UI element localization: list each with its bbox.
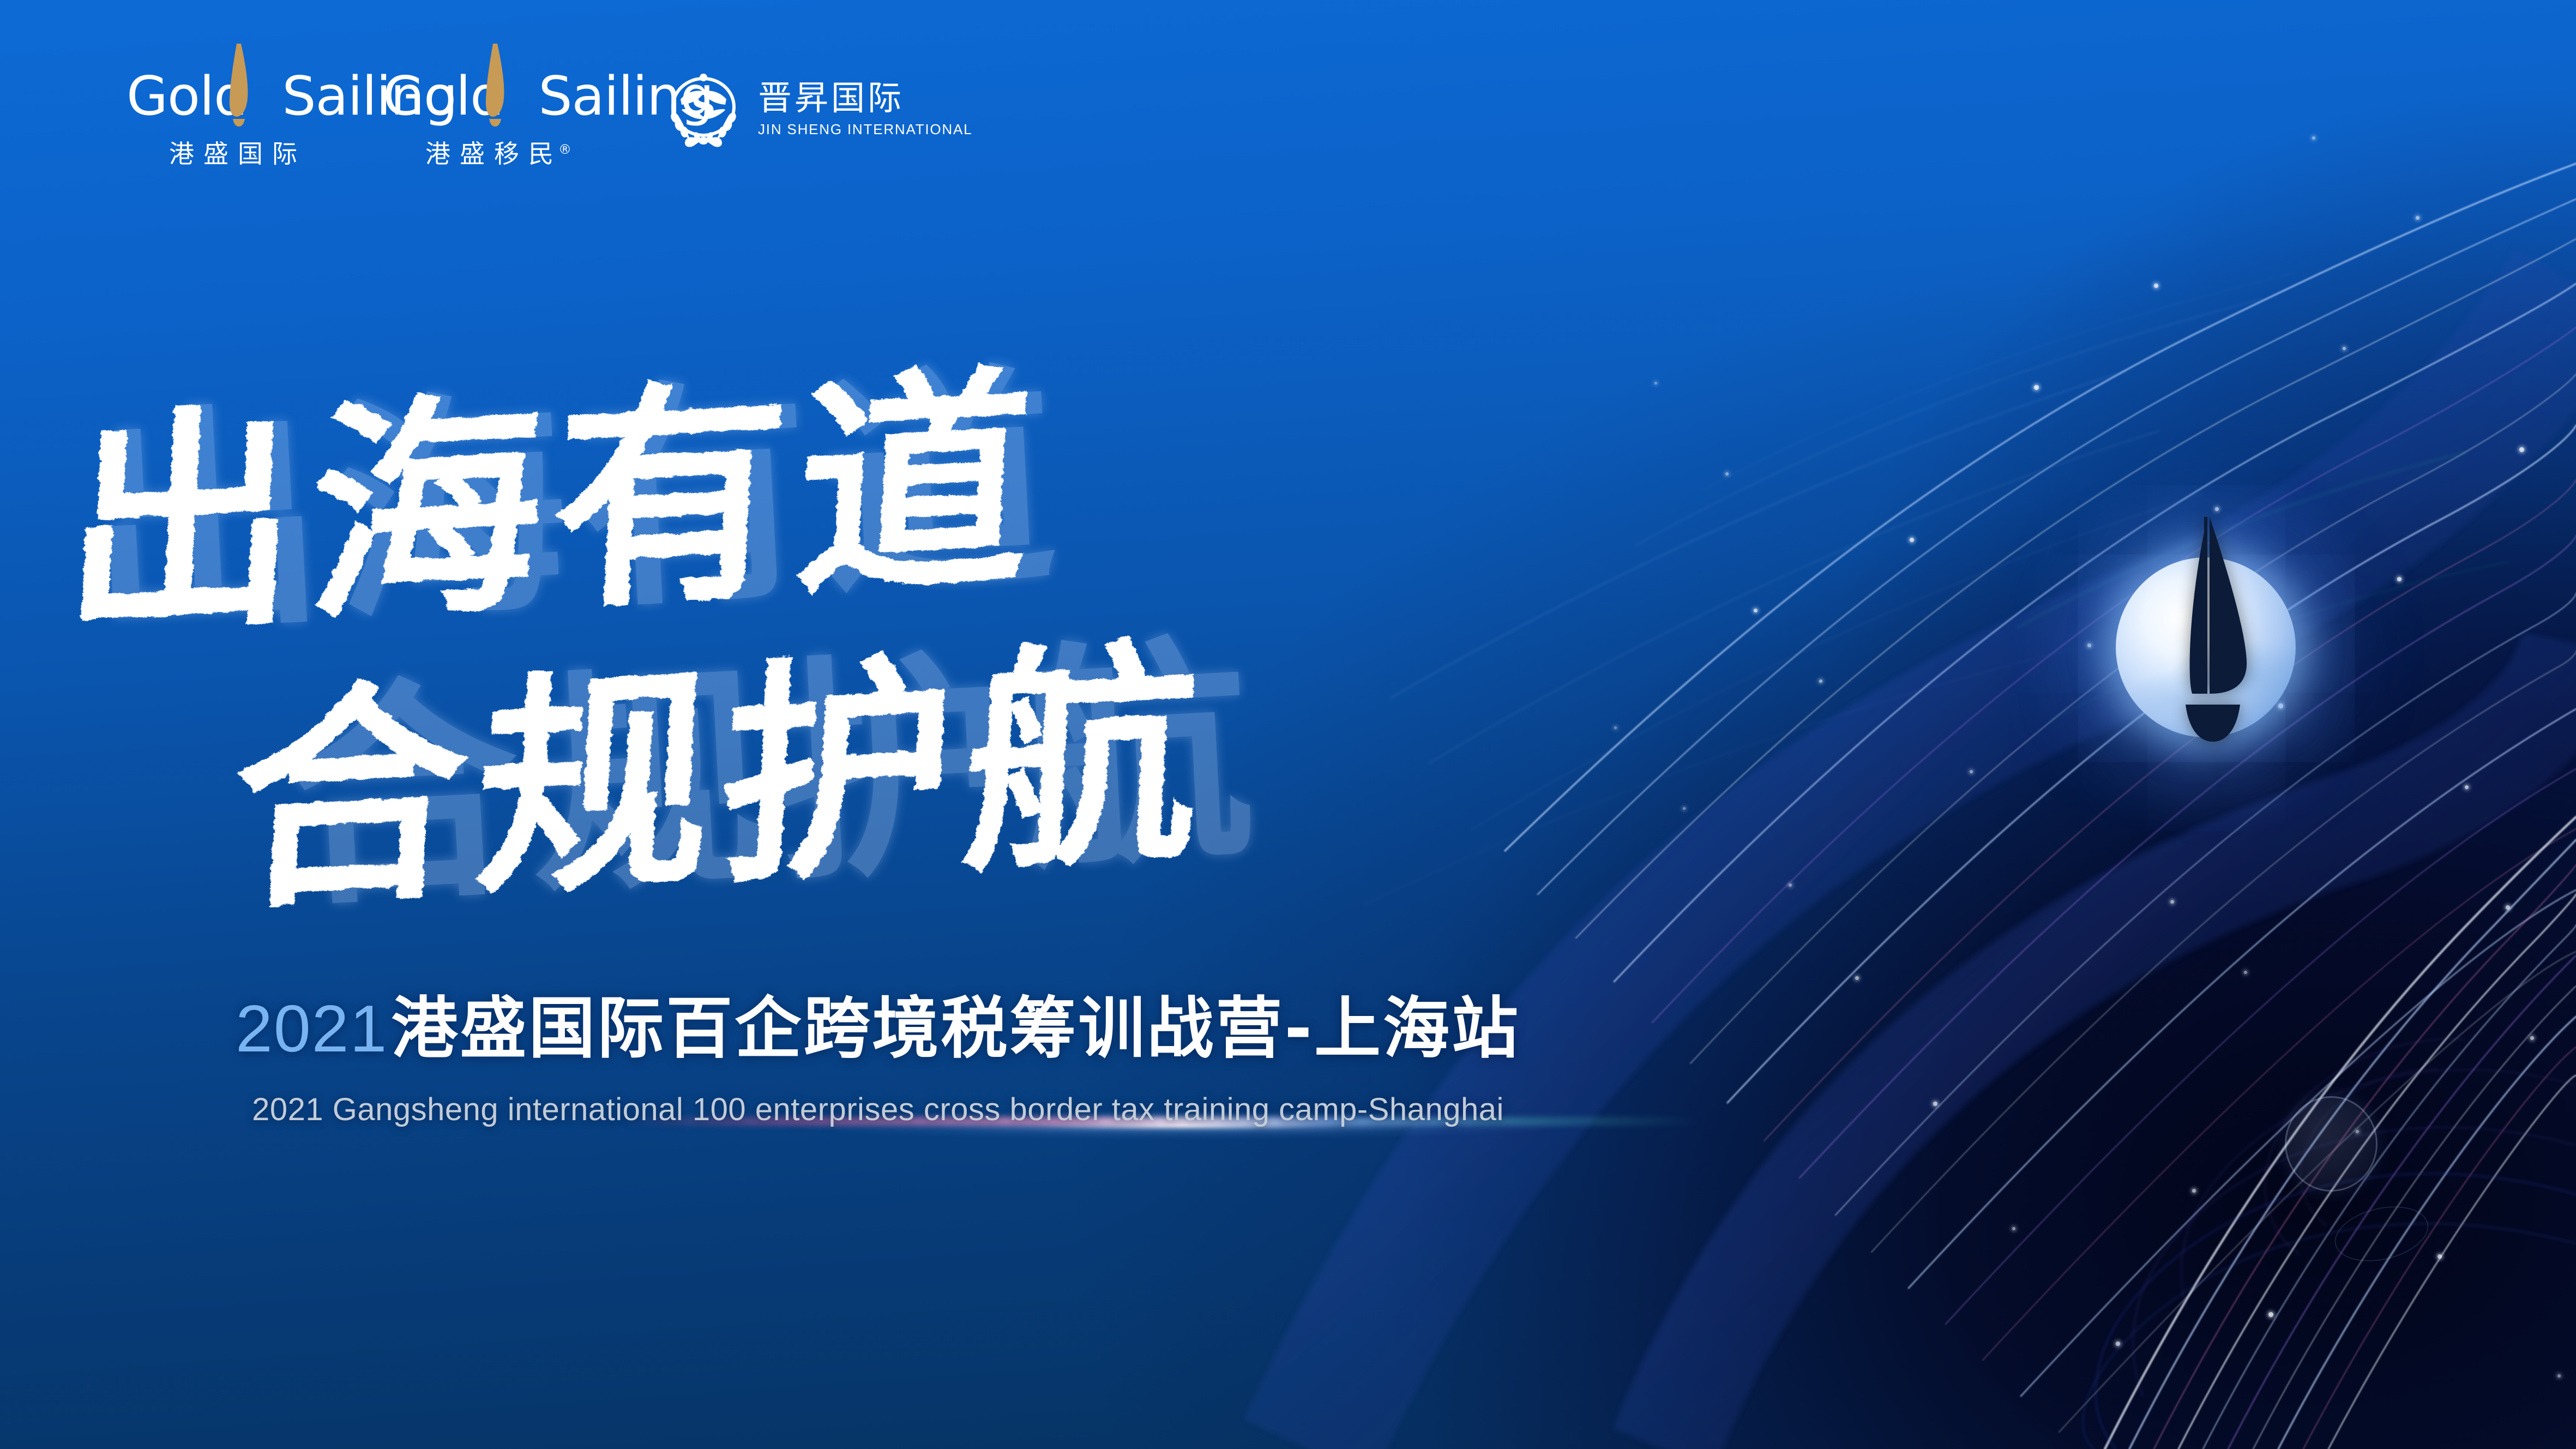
logo-text-block: 晋昇国际 JIN SHENG INTERNATIONAL bbox=[758, 80, 972, 138]
headline-line-1-glow: 出海有道 bbox=[81, 343, 1072, 666]
headline-line-2-glow: 合规护航 bbox=[278, 616, 1268, 939]
subtitle-chinese-text: 港盛国际百企跨境税筹训战营-上海站 bbox=[391, 990, 1520, 1067]
logo-chinese-name: 晋昇国际 bbox=[758, 80, 972, 116]
sailboat-sail-icon bbox=[227, 44, 252, 127]
logo-chinese-name: 港盛移民® bbox=[425, 134, 639, 170]
subtitle-block: 2021港盛国际百企跨境税筹训战营-上海站 2021 Gangsheng int… bbox=[0, 991, 1756, 1128]
subtitle-chinese: 2021港盛国际百企跨境税筹训战营-上海站 bbox=[0, 991, 1756, 1066]
logo-gold-sailing-immigration[interactable]: GoldSailing 港盛移民® bbox=[383, 70, 639, 170]
headline-line-2: 合规护航 bbox=[225, 617, 1215, 942]
lens-flare-ring-icon bbox=[2330, 1198, 2434, 1270]
logo-english-name: JIN SHENG INTERNATIONAL bbox=[758, 121, 972, 138]
logo-wordmark: GoldSailing bbox=[383, 70, 639, 123]
sailboat-sail-icon bbox=[483, 44, 508, 127]
logo-chinese-text: 港盛移民 bbox=[425, 139, 563, 169]
svg-text:S: S bbox=[691, 86, 716, 126]
logo-wordmark: GoldSailing bbox=[127, 70, 383, 123]
subtitle-english: 2021 Gangsheng international 100 enterpr… bbox=[0, 1091, 1756, 1128]
headline-line-1: 出海有道 bbox=[58, 343, 1048, 668]
logo-bar: GoldSailing 港盛国际 GoldSailing 港盛移民® bbox=[127, 70, 972, 170]
registered-mark: ® bbox=[558, 142, 571, 157]
lens-flare-bubble-icon bbox=[2285, 1096, 2378, 1192]
logo-chinese-name: 港盛国际 bbox=[169, 134, 383, 170]
oval-laurel-s-emblem-icon: S bbox=[662, 68, 745, 151]
logo-jin-sheng-international[interactable]: S 晋昇国际 JIN SHENG INTERNATIONAL bbox=[662, 68, 972, 151]
subtitle-year: 2021 bbox=[236, 991, 388, 1066]
poster-canvas: GoldSailing 港盛国际 GoldSailing 港盛移民® bbox=[0, 0, 2576, 1449]
headline-calligraphy: 出海有道 合规护航 出海有道 合规护航 bbox=[0, 305, 1690, 982]
logo-gold-sailing-international[interactable]: GoldSailing 港盛国际 bbox=[127, 70, 383, 170]
sailboat-silhouette-icon bbox=[2143, 513, 2285, 785]
